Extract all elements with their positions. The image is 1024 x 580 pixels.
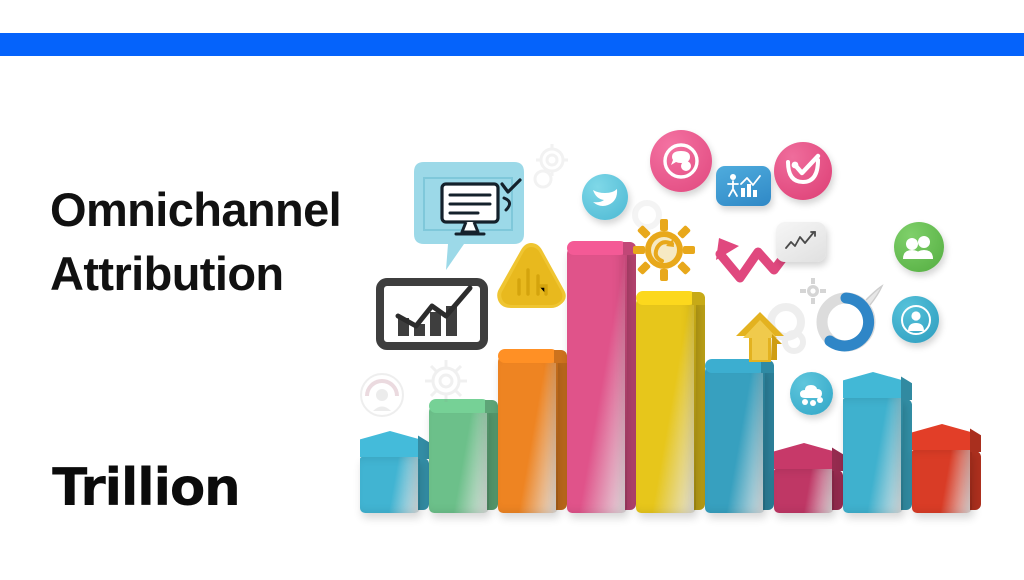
cloud-network-icon	[790, 372, 833, 415]
user-profile-icon	[892, 296, 939, 343]
group-users-icon	[894, 222, 944, 272]
checkmark-circle-icon	[774, 142, 832, 200]
bar-face	[567, 247, 627, 513]
bar-face	[843, 398, 903, 513]
bar-cap	[360, 431, 420, 457]
bar-face	[498, 355, 558, 513]
bar-8	[843, 372, 903, 513]
gear-clock-icon	[632, 218, 696, 287]
brand-logo: Trillion	[52, 458, 239, 518]
bar-face	[429, 405, 489, 513]
up-arrow-icon	[730, 308, 792, 375]
donut-chart-icon	[808, 282, 888, 361]
bar-top	[567, 241, 627, 255]
bar-6	[705, 365, 765, 513]
bar-cap-side	[970, 424, 981, 452]
bar-cap-side	[832, 443, 843, 471]
bar-9	[912, 424, 972, 513]
bar-4	[567, 247, 627, 513]
bar-cap-side	[418, 431, 429, 459]
bar-face	[360, 457, 420, 513]
bar-1	[360, 431, 420, 513]
bar-cap	[774, 443, 834, 469]
bar-2	[429, 405, 489, 513]
line-chart-card-icon	[776, 222, 826, 262]
chat-target-icon	[650, 130, 712, 192]
bar-face	[705, 365, 765, 513]
bar-top-side	[485, 400, 498, 413]
gauge-person-icon	[354, 365, 410, 426]
top-accent-bar	[0, 33, 1024, 56]
bar-chart-monitor-icon	[376, 276, 490, 361]
bar-face	[636, 297, 696, 513]
bar-top-side	[554, 350, 567, 363]
bar-top	[636, 291, 696, 305]
bar-face	[912, 450, 972, 513]
bar-chart-illustration	[330, 100, 1020, 530]
gear-ghost-icon	[420, 355, 472, 412]
gear-small-ghost-icon	[530, 142, 578, 197]
bar-top-side	[692, 292, 705, 305]
twitter-bird-icon	[582, 174, 628, 220]
people-analytics-icon	[716, 166, 771, 206]
bar-3	[498, 355, 558, 513]
bar-top	[498, 349, 558, 363]
bar-cap	[912, 424, 972, 450]
bar-cap	[843, 372, 903, 398]
bar-5	[636, 297, 696, 513]
triangle-bar-chart-icon	[492, 238, 570, 317]
bar-face	[774, 469, 834, 513]
bar-7	[774, 443, 834, 513]
bar-cap-side	[901, 372, 912, 400]
